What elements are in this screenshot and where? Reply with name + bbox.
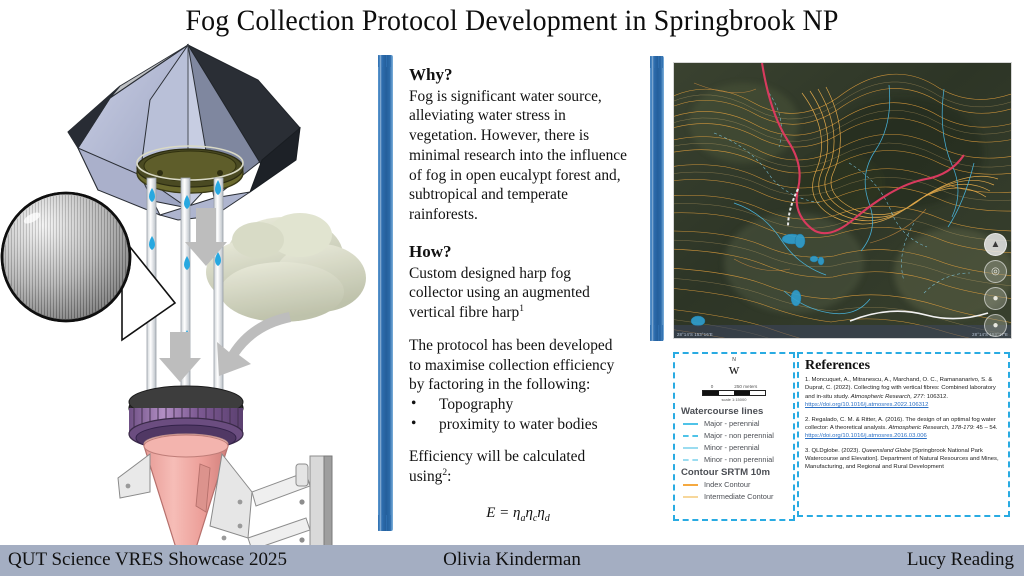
line-swatch-icon — [683, 459, 698, 461]
bullet-dot-icon: • — [411, 414, 416, 434]
reference-doi-link[interactable]: https://doi.org/10.1016/j.atmosres.2016.… — [805, 432, 927, 440]
formula-term: ηa — [513, 505, 525, 521]
scale-bar-graphic — [702, 390, 766, 396]
pin-icon[interactable]: ● — [984, 287, 1007, 310]
reference-journal: Queensland Globe — [862, 448, 911, 454]
reference-journal: Atmospheric Research, 277 — [851, 394, 924, 400]
gauge-icon[interactable]: ◎ — [984, 260, 1007, 283]
efficiency-colon: : — [447, 468, 451, 485]
scale-min-label: 0 — [711, 384, 714, 389]
formula-subscript: d — [545, 513, 550, 524]
cloud-graphic — [206, 213, 366, 322]
legend-item: Major - perennial — [683, 419, 789, 428]
north-arrow-icon: w — [675, 363, 793, 377]
bullet-dot-icon: • — [411, 394, 416, 414]
legend-item-label: Index Contour — [704, 480, 750, 489]
efficiency-lead-text: Efficiency will be calculated using — [409, 448, 585, 485]
how-superscript: 1 — [519, 304, 524, 314]
reference-journal: Atmospheric Research, 178-179 — [889, 425, 973, 431]
collector-cone-graphic — [118, 435, 252, 550]
formula-symbol: η — [537, 505, 544, 521]
fog-collector-illustration — [0, 40, 370, 550]
legend-item-label: Intermediate Contour — [704, 492, 773, 501]
line-swatch-icon — [683, 447, 698, 449]
scale-max-label: 250 meters — [734, 384, 757, 389]
divider-brush-right — [650, 56, 664, 341]
references-panel: References 1. Moncuquet, A., Mitranescu,… — [797, 352, 1010, 517]
line-swatch-icon — [683, 435, 698, 437]
legend-item: Intermediate Contour — [683, 492, 789, 501]
scale-bar: 0 250 meters scale 1:15000 — [675, 384, 793, 402]
reference-text: 3. QLDglobe. (2023). — [805, 448, 862, 454]
line-swatch-icon — [683, 496, 698, 498]
legend-item: Minor - perennial — [683, 443, 789, 452]
list-item: •proximity to water bodies — [409, 415, 627, 435]
legend-group-heading: Contour SRTM 10m — [681, 467, 789, 478]
divider-brush-left — [378, 55, 393, 531]
scale-ratio-label: scale 1:15000 — [675, 397, 793, 402]
protocol-intro: The protocol has been developed to maxim… — [409, 336, 627, 395]
line-swatch-icon — [683, 423, 698, 425]
formula-term: ηc — [525, 505, 537, 521]
content-column: Why? Fog is significant water source, al… — [409, 64, 627, 526]
protocol-bullet-list: •Topography •proximity to water bodies — [409, 395, 627, 434]
references-heading: References — [805, 358, 1002, 374]
formula-equals: = — [499, 505, 509, 521]
footer-bar: QUT Science VRES Showcase 2025 Olivia Ki… — [0, 545, 1024, 576]
compass-icon[interactable]: ▲ — [984, 233, 1007, 256]
legend-item-label: Major - non perennial — [704, 431, 774, 440]
bullet-label: proximity to water bodies — [439, 416, 598, 433]
legend-item-label: Minor - perennial — [704, 443, 759, 452]
formula-symbol: η — [525, 505, 532, 521]
reference-pages: : 106312. — [923, 394, 948, 400]
how-heading: How? — [409, 241, 627, 263]
footer-presenter-label: Olivia Kinderman — [0, 549, 1024, 571]
map-controls[interactable]: ▲ ◎ ● ● ◇ — [984, 233, 1006, 339]
how-body-text: Custom designed harp fog collector using… — [409, 265, 590, 322]
why-body: Fog is significant water source, allevia… — [409, 87, 627, 225]
legend-entries: Watercourse lines Major - perennial Majo… — [681, 406, 789, 504]
reference-item: 2. Regalado, C. M. & Ritter, A. (2016). … — [805, 416, 1002, 441]
legend-item: Major - non perennial — [683, 431, 789, 440]
list-item: •Topography — [409, 395, 627, 415]
map-coordinate-left: 28°14'S 153°16'E — [677, 332, 713, 337]
why-heading: Why? — [409, 64, 627, 86]
north-arrow: N w — [675, 358, 793, 377]
bullet-label: Topography — [439, 396, 513, 413]
efficiency-formula: E = ηaηcηd — [409, 504, 627, 526]
footer-supervisor-label: Lucy Reading — [907, 549, 1014, 571]
pin-alt-icon[interactable]: ● — [984, 314, 1007, 337]
page-title: Fog Collection Protocol Development in S… — [36, 4, 988, 38]
map-legend-panel: N w 0 250 meters scale 1:15000 Watercour… — [673, 352, 795, 521]
legend-item: Index Contour — [683, 480, 789, 489]
line-swatch-icon — [683, 484, 698, 486]
topographic-map[interactable]: 28°14'S 153°16'E 28°14'S 153°17'E ▲ ◎ ● … — [673, 62, 1012, 339]
how-body: Custom designed harp fog collector using… — [409, 264, 627, 323]
formula-lhs: E — [486, 505, 495, 521]
reference-doi-link[interactable]: https://doi.org/10.1016/j.atmosres.2022.… — [805, 401, 928, 409]
legend-item-label: Major - perennial — [704, 419, 759, 428]
mounting-post-graphic — [248, 456, 332, 550]
legend-item-label: Minor - non perennial — [704, 455, 774, 464]
reference-item: 3. QLDglobe. (2023). Queensland Globe [S… — [805, 447, 1002, 472]
efficiency-lead: Efficiency will be calculated using2: — [409, 447, 627, 487]
legend-group-heading: Watercourse lines — [681, 406, 789, 417]
formula-term: ηd — [537, 505, 549, 521]
legend-item: Minor - non perennial — [683, 455, 789, 464]
poster-root: Fog Collection Protocol Development in S… — [0, 0, 1024, 576]
reference-item: 1. Moncuquet, A., Mitranescu, A., Marcha… — [805, 376, 1002, 410]
reference-pages: : 45 – 54. — [973, 425, 998, 431]
